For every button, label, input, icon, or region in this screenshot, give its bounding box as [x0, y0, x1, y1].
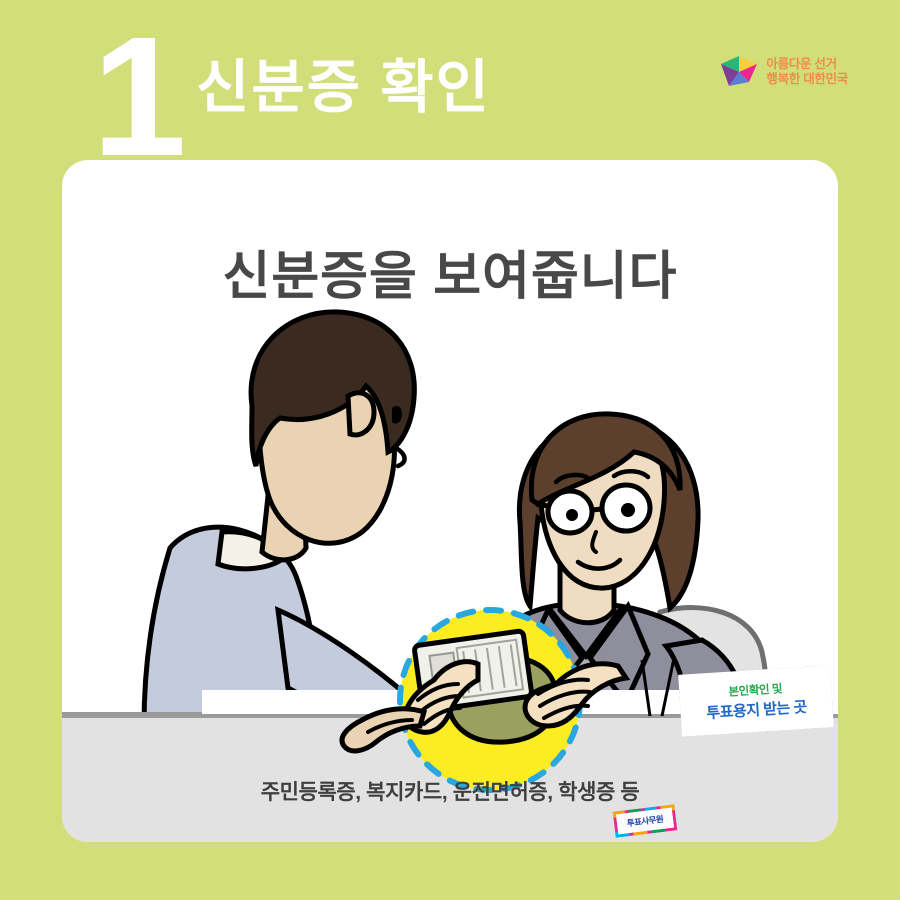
illustration-scene	[62, 160, 838, 842]
logo-line-2: 행복한 대한민국	[766, 72, 848, 87]
step-number: 1	[92, 22, 183, 172]
step-title: 신분증 확인	[196, 40, 491, 124]
id-types-caption: 주민등록증, 복지카드, 운전면허증, 학생증 등	[62, 776, 838, 806]
staff-badge-label: 투표사무원	[626, 813, 664, 829]
content-card: 신분증을 보여줍니다	[62, 160, 838, 842]
desk-sign-line-2: 투표용지 받는 곳	[706, 696, 808, 723]
election-logo: 아름다운 선거 행복한 대한민국	[719, 52, 848, 92]
logo-line-1: 아름다운 선거	[766, 57, 848, 72]
desk-sign: 본인확인 및 투표용지 받는 곳	[678, 665, 834, 736]
infographic-canvas: 1 신분증 확인 아름다운 선거 행복한 대한민국 신분증을 보여줍니다	[0, 0, 900, 900]
pinwheel-logo-icon	[719, 52, 759, 92]
